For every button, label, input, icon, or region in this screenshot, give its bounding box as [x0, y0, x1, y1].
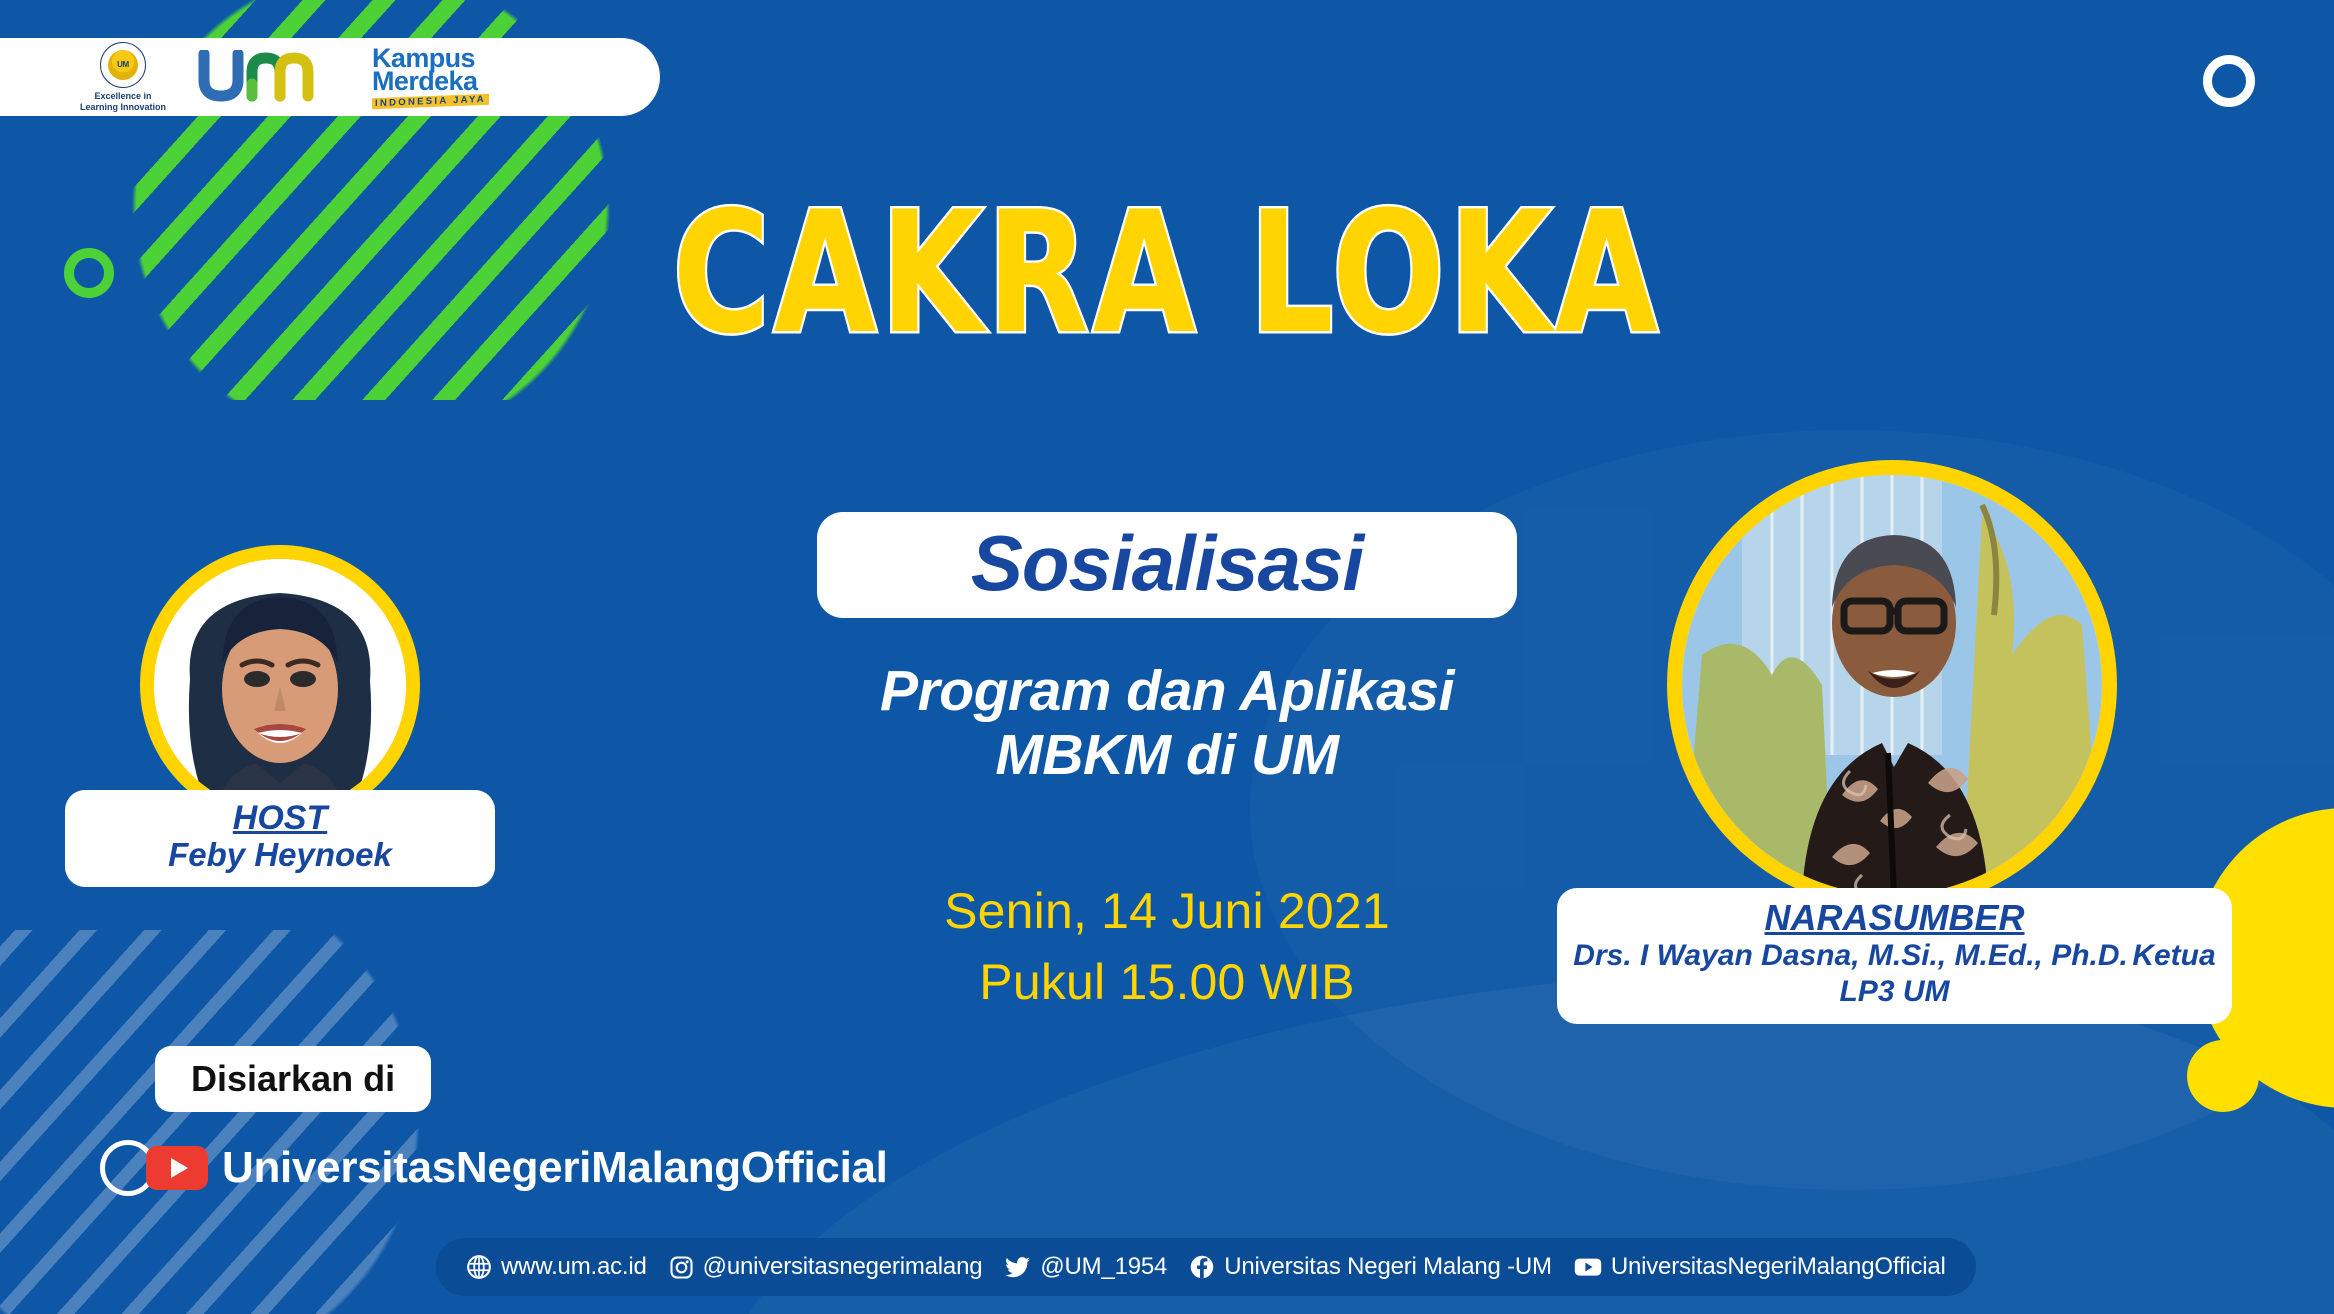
um-seal-initials: UM [117, 60, 129, 69]
social-item-youtube[interactable]: UniversitasNegeriMalangOfficial [1574, 1253, 1946, 1281]
broadcast-badge: Disiarkan di [155, 1046, 431, 1112]
social-item-instagram[interactable]: @universitasnegerimalang [669, 1253, 983, 1281]
yellow-circle-small-decoration [2187, 1040, 2259, 1112]
white-ring-decoration [2203, 55, 2255, 107]
event-date: Senin, 14 Juni 2021 [737, 876, 1597, 947]
facebook-icon [1189, 1254, 1215, 1280]
social-item-twitter[interactable]: @UM_1954 [1004, 1253, 1167, 1281]
facebook-label: Universitas Negeri Malang -UM [1224, 1253, 1552, 1281]
host-avatar [154, 559, 406, 811]
speaker-role-label: NARASUMBER [1571, 898, 2218, 938]
youtube-icon [1574, 1256, 1602, 1278]
logo-bar: UM Excellence in Learning Innovation Kam… [0, 38, 660, 116]
youtube-channel-row[interactable]: UniversitasNegeriMalangOfficial [100, 1140, 888, 1196]
host-role-label: HOST [75, 801, 485, 837]
instagram-icon [669, 1255, 694, 1280]
sosialisasi-badge: Sosialisasi [817, 512, 1517, 618]
speaker-avatar [1682, 475, 2102, 895]
poster-title: CAKRA LOKA [140, 175, 2194, 371]
main-content-column: Sosialisasi Program dan Aplikasi MBKM di… [737, 512, 1597, 1018]
twitter-label: @UM_1954 [1040, 1253, 1167, 1281]
um-seal-icon: UM [100, 42, 146, 88]
um-logomark-icon [194, 52, 344, 102]
instagram-label: @universitasnegerimalang [703, 1253, 983, 1281]
webinar-poster: UM Excellence in Learning Innovation Kam… [0, 0, 2334, 1314]
kampus-merdeka-logo: Kampus Merdeka INDONESIA JAYA [372, 47, 489, 107]
event-datetime: Senin, 14 Juni 2021 Pukul 15.00 WIB [737, 876, 1597, 1018]
website-label: www.um.ac.id [501, 1253, 647, 1281]
youtube-label: UniversitasNegeriMalangOfficial [1611, 1253, 1946, 1281]
um-seal-logo: UM Excellence in Learning Innovation [80, 42, 166, 113]
host-name-label: Feby Heynoek [168, 836, 392, 873]
twitter-icon [1004, 1254, 1031, 1281]
host-photo-ring [140, 545, 420, 825]
youtube-channel-name: UniversitasNegeriMalangOfficial [222, 1143, 888, 1193]
host-card: HOST Feby Heynoek [140, 545, 420, 825]
host-caption: HOST Feby Heynoek [65, 790, 495, 887]
seal-tagline-line2: Learning Innovation [80, 102, 166, 113]
subtitle-line-2: MBKM di UM [737, 724, 1597, 788]
speaker-caption: NARASUMBER Drs. I Wayan Dasna, M.Si., M.… [1557, 888, 2232, 1024]
speaker-card: NARASUMBER Drs. I Wayan Dasna, M.Si., M.… [1667, 460, 2117, 910]
speaker-photo-ring [1667, 460, 2117, 910]
kampus-merdeka-line2: Merdeka [372, 70, 489, 93]
subtitle-line-1: Program dan Aplikasi [737, 660, 1597, 724]
blue-diagonal-stripes-decoration [0, 930, 440, 1314]
speaker-name-label: Drs. I Wayan Dasna, M.Si., M.Ed., Ph.D. [1573, 939, 2128, 972]
social-footer-bar: www.um.ac.id @universitasnegerimalang @U… [436, 1238, 1976, 1296]
seal-tagline-line1: Excellence in [80, 91, 166, 102]
social-item-website[interactable]: www.um.ac.id [466, 1253, 647, 1281]
event-time: Pukul 15.00 WIB [737, 947, 1597, 1018]
globe-icon [466, 1254, 492, 1280]
sosialisasi-label: Sosialisasi [971, 519, 1363, 607]
event-subtitle: Program dan Aplikasi MBKM di UM [737, 660, 1597, 788]
green-ring-decoration [64, 248, 114, 298]
youtube-icon [146, 1146, 208, 1190]
social-item-facebook[interactable]: Universitas Negeri Malang -UM [1189, 1253, 1552, 1281]
